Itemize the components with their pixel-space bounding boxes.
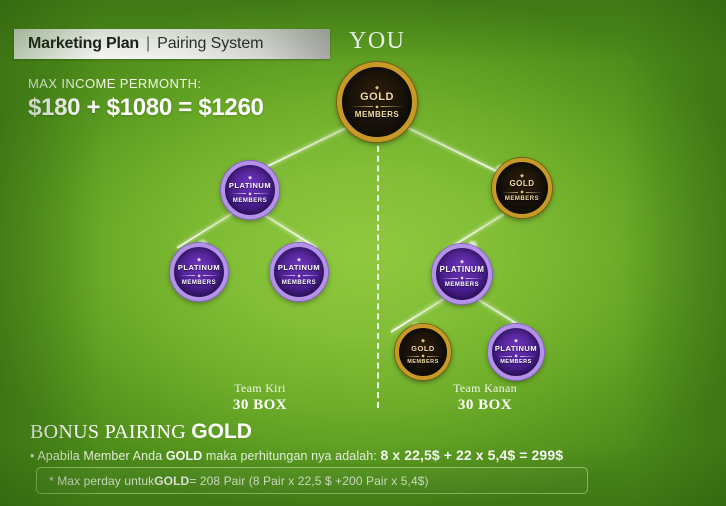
badge-divider: ◆ xyxy=(502,190,543,194)
max-perday-note: * Max perday untuk GOLD = 208 Pair (8 Pa… xyxy=(36,467,588,494)
badge-tier-label: PLATINUM xyxy=(178,264,220,272)
badge-members-label: MEMBERS xyxy=(182,280,216,286)
bonus-calculation: 8 x 22,5$ + 22 x 5,4$ = 299$ xyxy=(380,447,563,463)
badge-tier-label: PLATINUM xyxy=(278,264,320,272)
badge-tier-label: PLATINUM xyxy=(440,266,485,274)
bonus-heading: BONUS PAIRING GOLD xyxy=(30,420,563,444)
max-income-amount: $180 + $1080 = $1260 xyxy=(28,94,264,122)
badge-members-label: MEMBERS xyxy=(445,282,479,288)
badge-r3a-gold[interactable]: ◆ GOLD ◆ MEMBERS xyxy=(395,324,451,380)
bonus-heading-tier: GOLD xyxy=(191,420,252,443)
badge-divider: ◆ xyxy=(231,192,270,196)
badge-top-dot: ◆ xyxy=(375,86,379,91)
banner-title: Marketing Plan xyxy=(28,35,139,53)
banner-subtitle: Pairing System xyxy=(157,35,263,53)
note-part1: * Max perday untuk xyxy=(49,474,154,488)
team-left-name: Team Kiri xyxy=(200,381,320,396)
max-income-block: MAX INCOME PERMONTH: $180 + $1080 = $126… xyxy=(28,76,264,122)
badge-members-label: MEMBERS xyxy=(500,360,532,366)
team-divider xyxy=(377,136,379,408)
badge-tier-label: GOLD xyxy=(360,92,394,103)
badge-root-gold[interactable]: ◆ GOLD ◆ MEMBERS xyxy=(337,62,417,142)
badge-l1-platinum[interactable]: ◆ PLATINUM ◆ MEMBERS xyxy=(221,161,279,219)
banner-separator: | xyxy=(146,35,150,53)
badge-l2a-platinum[interactable]: ◆ PLATINUM ◆ MEMBERS xyxy=(170,243,228,301)
bonus-bullet-line: • Apabila Member Anda GOLD maka perhitun… xyxy=(30,447,563,463)
badge-r3b-platinum[interactable]: ◆ PLATINUM ◆ MEMBERS xyxy=(488,324,544,380)
bonus-bullet-part2: maka perhitungan nya adalah: xyxy=(202,449,380,463)
bonus-pairing-block: BONUS PAIRING GOLD • Apabila Member Anda… xyxy=(30,420,563,463)
badge-divider: ◆ xyxy=(180,274,219,278)
badge-divider: ◆ xyxy=(404,354,441,358)
badge-tier-label: PLATINUM xyxy=(495,345,537,353)
badge-r2-platinum[interactable]: ◆ PLATINUM ◆ MEMBERS xyxy=(432,244,492,304)
title-banner: Marketing Plan | Pairing System xyxy=(14,29,330,59)
marketing-plan-slide: Marketing Plan | Pairing System MAX INCO… xyxy=(0,0,726,506)
team-right-box: 30 BOX xyxy=(425,397,545,414)
bonus-bullet-tier: GOLD xyxy=(166,449,203,463)
badge-top-dot: ◆ xyxy=(514,339,518,344)
badge-members-label: MEMBERS xyxy=(233,198,267,204)
badge-members-label: MEMBERS xyxy=(355,111,399,119)
note-part2: = 208 Pair (8 Pair x 22,5 $ +200 Pair x … xyxy=(189,474,428,488)
badge-top-dot: ◆ xyxy=(421,339,425,344)
badge-divider: ◆ xyxy=(497,354,534,358)
team-left-box: 30 BOX xyxy=(200,397,320,414)
badge-members-label: MEMBERS xyxy=(282,280,316,286)
badge-l2b-platinum[interactable]: ◆ PLATINUM ◆ MEMBERS xyxy=(270,243,328,301)
bonus-heading-prefix: BONUS PAIRING xyxy=(30,421,191,443)
badge-members-label: MEMBERS xyxy=(505,196,539,202)
badge-r1-gold[interactable]: ◆ GOLD ◆ MEMBERS xyxy=(492,158,552,218)
badge-divider: ◆ xyxy=(280,274,319,278)
badge-tier-label: GOLD xyxy=(411,345,435,353)
badge-tier-label: GOLD xyxy=(509,180,534,188)
badge-divider: ◆ xyxy=(442,276,483,280)
note-tier: GOLD xyxy=(154,474,189,488)
badge-tier-label: PLATINUM xyxy=(229,182,271,190)
you-label: YOU xyxy=(349,28,406,55)
team-right-label: Team Kanan 30 BOX xyxy=(425,381,545,414)
max-income-label: MAX INCOME PERMONTH: xyxy=(28,76,264,91)
team-right-name: Team Kanan xyxy=(425,381,545,396)
badge-divider: ◆ xyxy=(350,105,405,109)
bonus-bullet-part1: • Apabila Member Anda xyxy=(30,449,166,463)
edge-l1-l2b xyxy=(260,212,317,249)
team-left-label: Team Kiri 30 BOX xyxy=(200,381,320,414)
badge-members-label: MEMBERS xyxy=(407,360,439,366)
